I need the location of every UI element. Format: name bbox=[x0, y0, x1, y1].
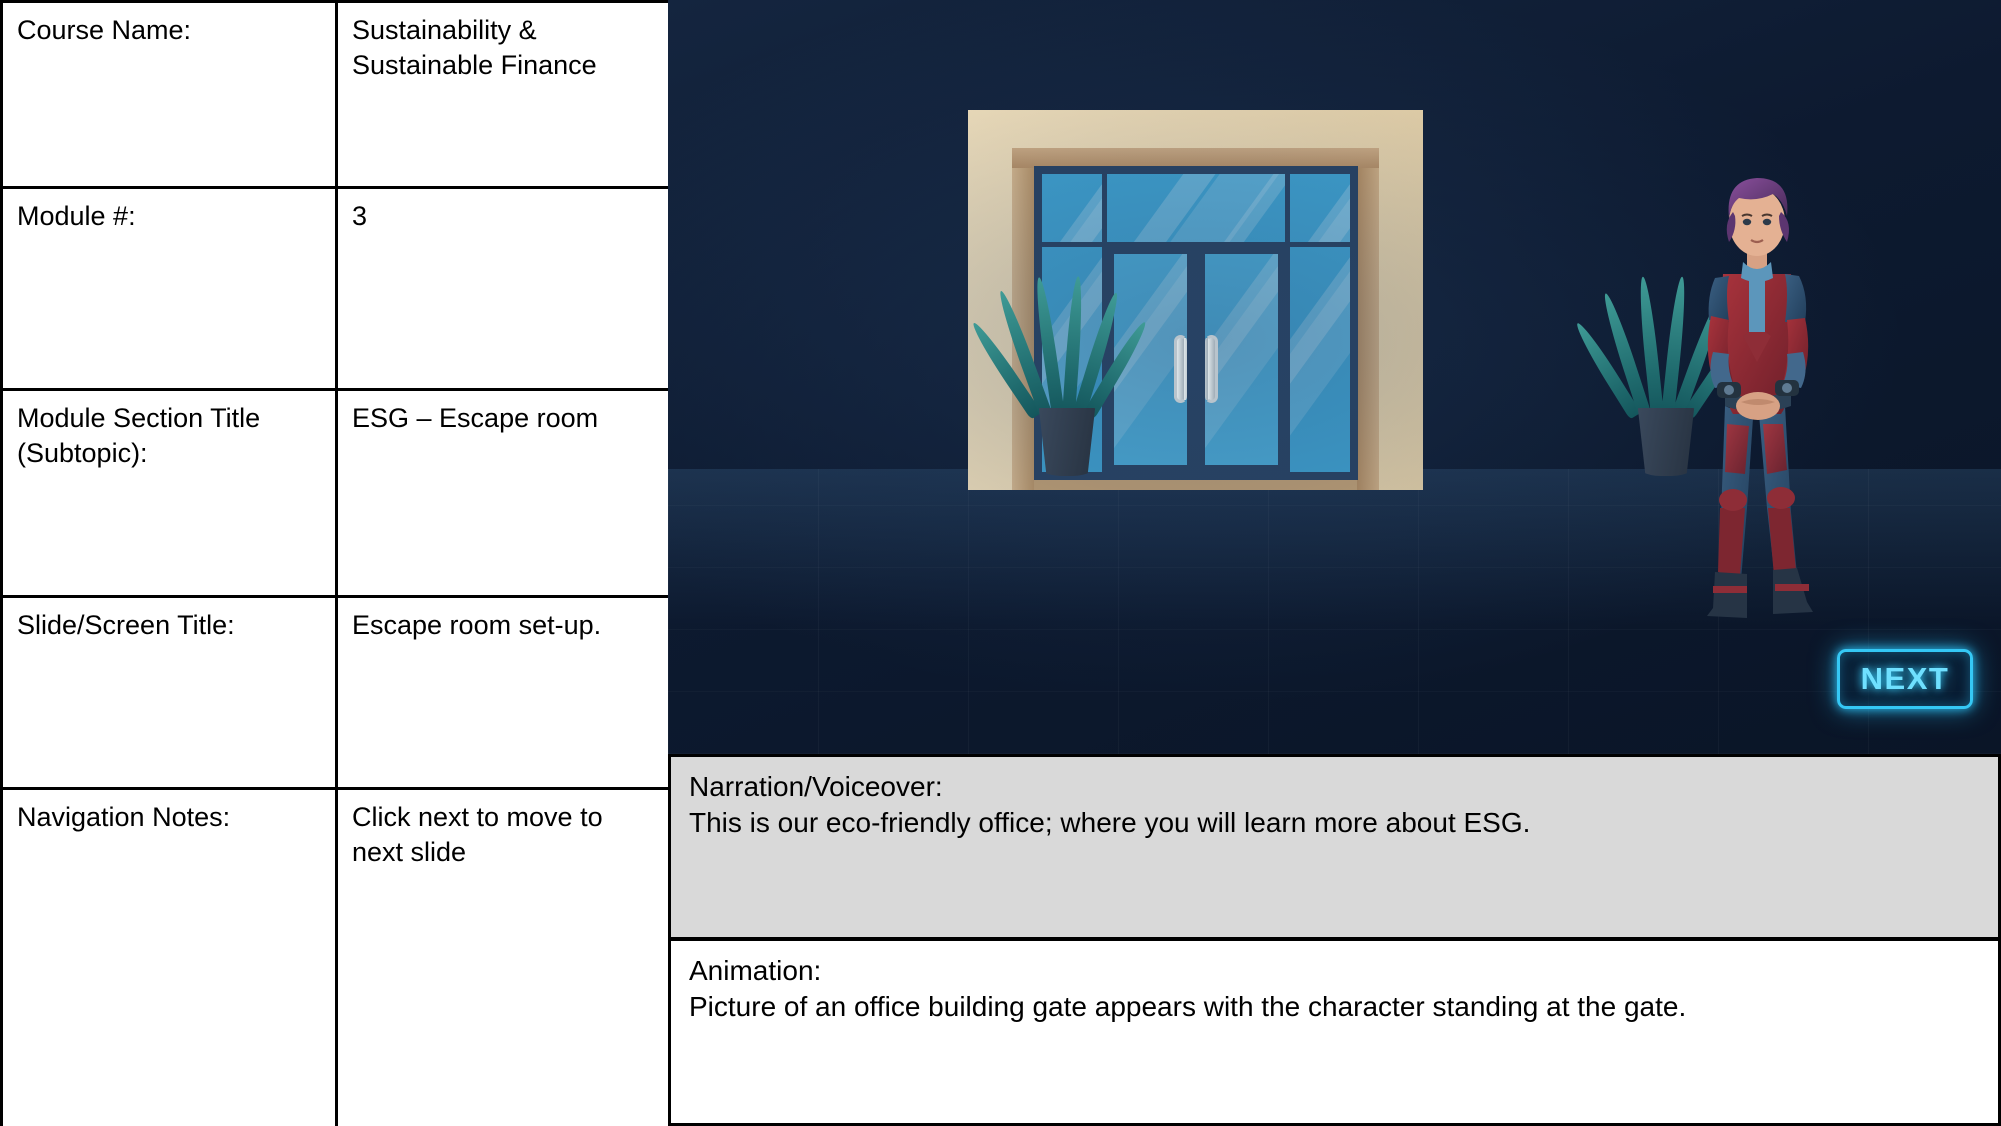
transom-pane-right bbox=[1290, 174, 1350, 242]
row-label-navigation-notes: Navigation Notes: bbox=[2, 789, 337, 1126]
row-value-course-name: Sustainability & Sustainable Finance bbox=[337, 2, 672, 188]
door-handle-icon bbox=[1173, 335, 1219, 403]
narration-body: This is our eco-friendly office; where y… bbox=[689, 805, 1982, 841]
row-label-module-number: Module #: bbox=[2, 188, 337, 390]
row-value-module-number: 3 bbox=[337, 188, 672, 390]
row-label-module-section-title: Module Section Title (Subtopic): bbox=[2, 390, 337, 597]
row-label-slide-title: Slide/Screen Title: bbox=[2, 597, 337, 789]
table-row: Module #: 3 bbox=[2, 188, 672, 390]
row-value-slide-title: Escape room set-up. bbox=[337, 597, 672, 789]
slide-preview-panel: NEXT Narration/Voiceover: This is our ec… bbox=[668, 0, 2001, 1126]
animation-box: Animation: Picture of an office building… bbox=[668, 938, 2001, 1126]
sidelite-right bbox=[1290, 247, 1350, 472]
potted-plant-left bbox=[1024, 261, 1110, 476]
double-door[interactable] bbox=[1107, 247, 1285, 472]
transom-windows bbox=[1042, 174, 1350, 242]
slide-scene: NEXT bbox=[668, 0, 2001, 754]
narration-heading: Narration/Voiceover: bbox=[689, 769, 1982, 805]
character-avatar bbox=[1663, 156, 1843, 626]
narration-box: Narration/Voiceover: This is our eco-fri… bbox=[668, 754, 2001, 940]
animation-body: Picture of an office building gate appea… bbox=[689, 989, 1982, 1025]
facade-bevel-right bbox=[1357, 148, 1379, 490]
table-row: Slide/Screen Title: Escape room set-up. bbox=[2, 597, 672, 789]
facade-bevel-top bbox=[1012, 148, 1379, 168]
table-row: Navigation Notes: Click next to move to … bbox=[2, 789, 672, 1126]
table-row: Module Section Title (Subtopic): ESG – E… bbox=[2, 390, 672, 597]
row-label-course-name: Course Name: bbox=[2, 2, 337, 188]
animation-heading: Animation: bbox=[689, 953, 1982, 989]
transom-pane-center bbox=[1107, 174, 1285, 242]
next-button-label: NEXT bbox=[1861, 661, 1950, 697]
table-row: Course Name: Sustainability & Sustainabl… bbox=[2, 2, 672, 188]
storyboard-page: Course Name: Sustainability & Sustainabl… bbox=[0, 0, 2001, 1126]
slide-spec-table: Course Name: Sustainability & Sustainabl… bbox=[0, 0, 673, 1126]
transom-pane-left bbox=[1042, 174, 1102, 242]
row-value-module-section-title: ESG – Escape room bbox=[337, 390, 672, 597]
next-button[interactable]: NEXT bbox=[1837, 649, 1973, 709]
row-value-navigation-notes: Click next to move to next slide bbox=[337, 789, 672, 1126]
